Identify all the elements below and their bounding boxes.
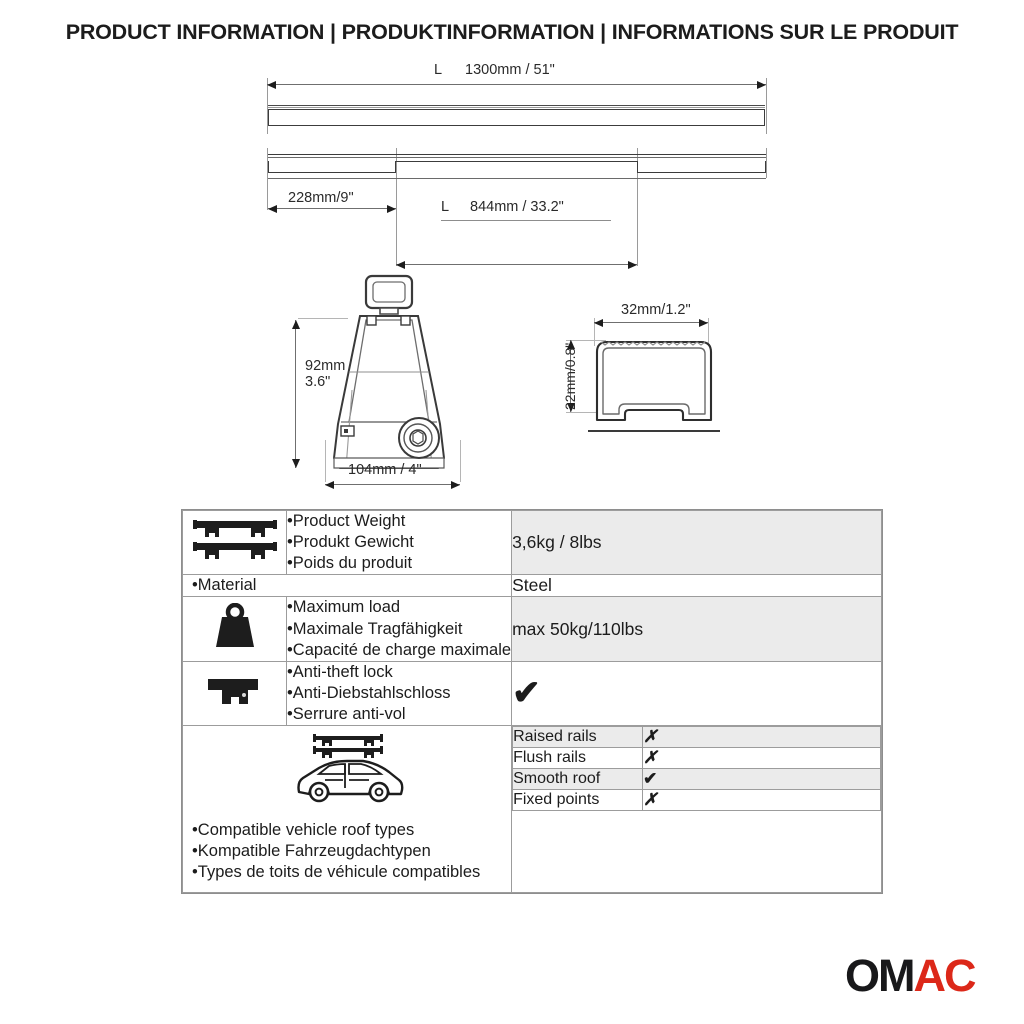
check-mark-icon: ✔: [512, 674, 541, 712]
anti-theft-value: ✔: [512, 661, 882, 725]
specification-table: •Product Weight •Produkt Gewicht •Poids …: [181, 509, 883, 894]
tower-width-witness-right: [460, 440, 461, 482]
label-line: •Capacité de charge maximale: [287, 640, 511, 661]
row-icon-cell: [183, 661, 287, 725]
material-value: Steel: [512, 575, 882, 597]
bar2-rail-top: [268, 154, 766, 155]
profile-cross-section-drawing: [588, 334, 720, 436]
row-icon-cell: [183, 597, 287, 661]
logo-dark-text: OM: [845, 950, 914, 1001]
tower-height-witness-top: [298, 318, 348, 319]
bar2-left-foot-block: [268, 161, 396, 173]
label-line: •Compatible vehicle roof types: [192, 820, 505, 841]
tower-width-witness-left: [325, 440, 326, 482]
table-row: •Product Weight •Produkt Gewicht •Poids …: [183, 511, 882, 575]
roof-type-row: Flush rails ✗: [513, 748, 881, 769]
bar2-rail-top-inner: [268, 157, 766, 158]
cross-mark-icon: ✗: [643, 727, 657, 746]
label-line: •Types de toits de véhicule compatibles: [192, 862, 505, 883]
label-line: •Maximale Tragfähigkeit: [287, 619, 511, 640]
roof-type-row: Fixed points ✗: [513, 790, 881, 811]
table-row: •Material Steel: [183, 575, 882, 597]
witness-line-right-2: [766, 148, 767, 178]
label-line: •Anti-theft lock: [287, 662, 511, 683]
label-line: •Serrure anti-vol: [287, 704, 511, 725]
roof-type-row: Raised rails ✗: [513, 727, 881, 748]
roof-type-name: Fixed points: [513, 790, 643, 811]
roof-types-icon-wrap: [192, 730, 505, 816]
omac-logo: OMAC: [845, 953, 975, 998]
table-row: •Anti-theft lock •Anti-Diebstahlschloss …: [183, 661, 882, 725]
span-prefix: L: [441, 199, 449, 215]
foot-offset-dimension-arrow: [268, 208, 396, 209]
span-value: 844mm / 33.2": [470, 199, 564, 215]
tower-height-dimension-arrow: [295, 320, 296, 468]
tower-height-line1: 92mm: [305, 358, 345, 374]
max-load-value: max 50kg/110lbs: [512, 597, 882, 661]
row-label-cell: •Product Weight •Produkt Gewicht •Poids …: [287, 511, 512, 575]
roof-types-label-cell: •Compatible vehicle roof types •Kompatib…: [183, 726, 512, 892]
roof-type-support: ✔: [643, 769, 881, 790]
roof-type-support: ✗: [643, 790, 881, 811]
foot-offset-value: 228mm/9": [288, 190, 354, 206]
roof-type-row: Smooth roof ✔: [513, 769, 881, 790]
row-icon-cell: [183, 511, 287, 575]
label-line: •Poids du produit: [287, 553, 511, 574]
check-mark-icon: ✔: [643, 769, 657, 788]
crossbar-side-view-body: [268, 109, 765, 126]
profile-baseline: [588, 430, 720, 432]
product-information-sheet: PRODUCT INFORMATION | PRODUKTINFORMATION…: [0, 0, 1024, 1024]
row-label-cell: •Maximum load •Maximale Tragfähigkeit •C…: [287, 597, 512, 661]
witness-line-right: [766, 78, 767, 134]
witness-line-foot-inner-left: [396, 148, 397, 266]
roof-type-name: Raised rails: [513, 727, 643, 748]
roof-type-name: Smooth roof: [513, 769, 643, 790]
car-with-roof-rack-icon: [289, 730, 409, 810]
bar-length-value: 1300mm / 51": [465, 62, 555, 78]
lock-icon: [204, 671, 266, 711]
roof-type-name: Flush rails: [513, 748, 643, 769]
material-label: •Material: [183, 575, 512, 597]
profile-height-value: 22mm/0.8": [562, 343, 578, 410]
crossbar-pair-icon: [191, 515, 279, 565]
profile-width-dimension-arrow: [594, 322, 708, 323]
product-weight-value: 3,6kg / 8lbs: [512, 511, 882, 575]
label-line: •Kompatible Fahrzeugdachtypen: [192, 841, 505, 862]
tower-width-value: 104mm / 4": [348, 462, 422, 478]
bar-length-dimension-arrow: [267, 84, 766, 85]
label-line: •Maximum load: [287, 597, 511, 618]
tower-width-dimension-arrow: [325, 484, 460, 485]
profile-width-value: 32mm/1.2": [621, 302, 691, 318]
label-line: •Produkt Gewicht: [287, 532, 511, 553]
label-line: •Anti-Diebstahlschloss: [287, 683, 511, 704]
roof-type-support: ✗: [643, 727, 881, 748]
span-dimension-arrow: [396, 264, 637, 265]
label-line: •Product Weight: [287, 511, 511, 532]
row-label-cell: •Anti-theft lock •Anti-Diebstahlschloss …: [287, 661, 512, 725]
bar2-right-foot-block: [637, 161, 766, 173]
weight-icon: [213, 603, 257, 651]
cross-mark-icon: ✗: [643, 790, 657, 809]
span-underline: [441, 220, 611, 221]
table-row: •Compatible vehicle roof types •Kompatib…: [183, 726, 882, 892]
logo-accent-text: AC: [914, 950, 975, 1001]
bar2-rail-bottom: [268, 178, 766, 179]
crossbar-top-edge: [268, 105, 765, 108]
roof-types-options-cell: Raised rails ✗ Flush rails ✗ Smooth roof…: [512, 726, 882, 892]
table-row: •Maximum load •Maximale Tragfähigkeit •C…: [183, 597, 882, 661]
roof-type-support: ✗: [643, 748, 881, 769]
page-title: PRODUCT INFORMATION | PRODUKTINFORMATION…: [0, 20, 1024, 45]
cross-mark-icon: ✗: [643, 748, 657, 767]
tower-height-line2: 3.6": [305, 374, 330, 390]
bar-length-prefix: L: [434, 62, 442, 78]
roof-types-sub-table: Raised rails ✗ Flush rails ✗ Smooth roof…: [512, 726, 881, 811]
